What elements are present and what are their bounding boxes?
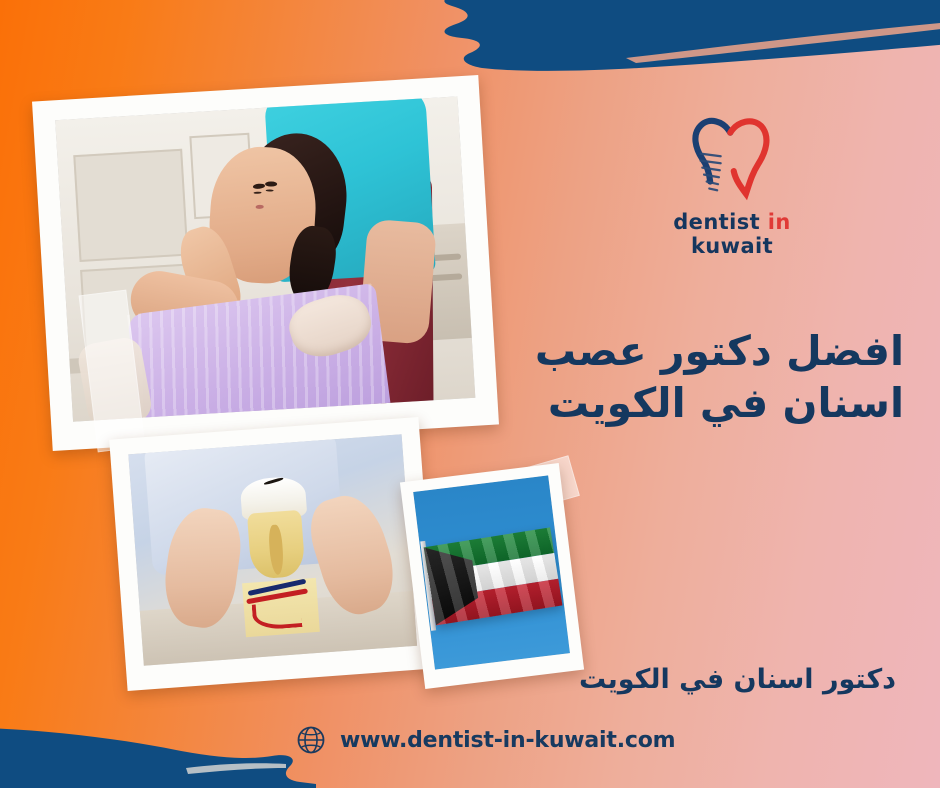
brand-name-part-1: dentist (673, 210, 760, 234)
kuwait-flag-photo (400, 463, 584, 689)
brand-name: dentist in kuwait (648, 210, 816, 258)
bottom-brush-stroke-decoration (0, 712, 316, 788)
top-brush-stroke-decoration (430, 0, 940, 72)
tooth-anatomy-model (235, 475, 320, 637)
eyebrow-right (266, 182, 278, 187)
brand-logo[interactable]: dentist in kuwait (648, 110, 816, 258)
page-title: افضل دكتور عصب اسنان في الكويت (484, 325, 904, 430)
brand-name-part-2: in (768, 210, 791, 234)
globe-icon (296, 725, 326, 755)
tooth-model-photo (109, 417, 437, 691)
eyebrow-left (253, 183, 265, 189)
tooth-cavity (264, 477, 284, 486)
tooth-implant-logo-icon (648, 110, 816, 206)
website-url-text[interactable]: www.dentist-in-kuwait.com (340, 728, 675, 753)
brand-name-part-3: kuwait (691, 234, 773, 258)
flag-photo-image (413, 475, 570, 669)
website-url-row[interactable]: www.dentist-in-kuwait.com (296, 725, 675, 755)
cabinet-shelf (73, 149, 188, 262)
lips (256, 205, 265, 209)
poster-canvas: dentist in kuwait افضل دكتور عصب اسنان ف… (0, 0, 940, 788)
patient-toothache-photo (32, 75, 499, 451)
tooth-photo-image (128, 434, 417, 665)
eye-left-closed (254, 192, 262, 195)
headline-line-1: افضل دكتور عصب (484, 325, 904, 377)
headline-line-2: اسنان في الكويت (484, 377, 904, 429)
subtitle: دكتور اسنان في الكويت (476, 664, 896, 695)
eye-right-closed (266, 190, 274, 192)
patient-photo-image (55, 96, 475, 421)
